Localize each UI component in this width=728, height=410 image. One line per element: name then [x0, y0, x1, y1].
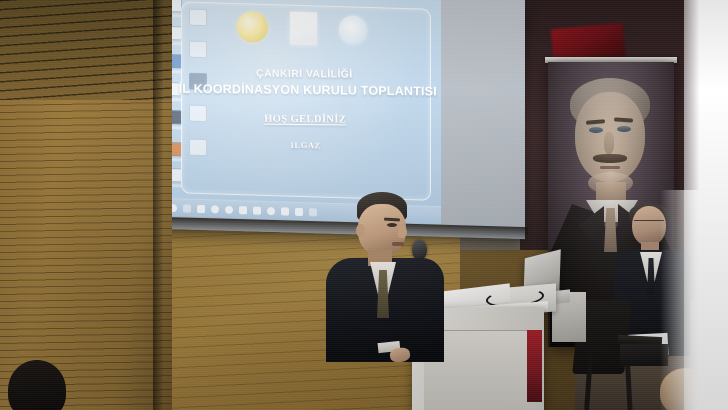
task-view-icon[interactable] [183, 204, 191, 212]
portrait-eye-right [617, 126, 631, 132]
explorer-icon[interactable] [197, 204, 205, 212]
portrait-nose [604, 132, 614, 154]
powerpoint-icon[interactable] [253, 206, 261, 214]
speaker-ear [356, 224, 365, 237]
wall-edge-shadow [153, 0, 163, 410]
projected-desktop: ÇANKIRI VALİLİĞİ İL KOORDİNASYON KURULU … [163, 0, 441, 224]
slide-welcome-line: HOŞ GELDİNİZ [179, 113, 431, 127]
speaker-mouth [392, 242, 404, 246]
pale-blue-seal-circle-icon [339, 15, 367, 45]
conference-photo: ÇANKIRI VALİLİĞİ İL KOORDİNASYON KURULU … [0, 0, 728, 410]
slide-line-2: İL KOORDİNASYON KURULU TOPLANTISI [179, 82, 431, 99]
media-icon[interactable] [267, 206, 275, 214]
speaker-eye [387, 223, 397, 227]
white-emblem-rect-icon [290, 12, 317, 46]
speaker-nose [398, 226, 407, 238]
word-icon[interactable] [281, 207, 289, 215]
app-icon[interactable] [239, 206, 247, 214]
wood-slat-wall-upper [0, 0, 172, 100]
tray-icon[interactable] [309, 208, 317, 216]
mail-icon[interactable] [225, 205, 233, 213]
portrait-mouth [600, 166, 620, 169]
slide-icon[interactable] [189, 41, 207, 59]
overexposed-edge [684, 0, 728, 410]
gold-seal-circle-icon [237, 11, 268, 43]
folder-icon[interactable] [295, 207, 303, 215]
speaker-at-lectern [326, 192, 446, 362]
portrait-eye-left [589, 127, 603, 133]
browser-icon[interactable] [211, 205, 219, 213]
lectern-red-accent [527, 330, 542, 402]
slide-line-1: ÇANKIRI VALİLİĞİ [178, 67, 430, 82]
slide-text-block: ÇANKIRI VALİLİĞİ İL KOORDİNASYON KURULU … [178, 67, 432, 152]
portrait-moustache [593, 154, 627, 163]
